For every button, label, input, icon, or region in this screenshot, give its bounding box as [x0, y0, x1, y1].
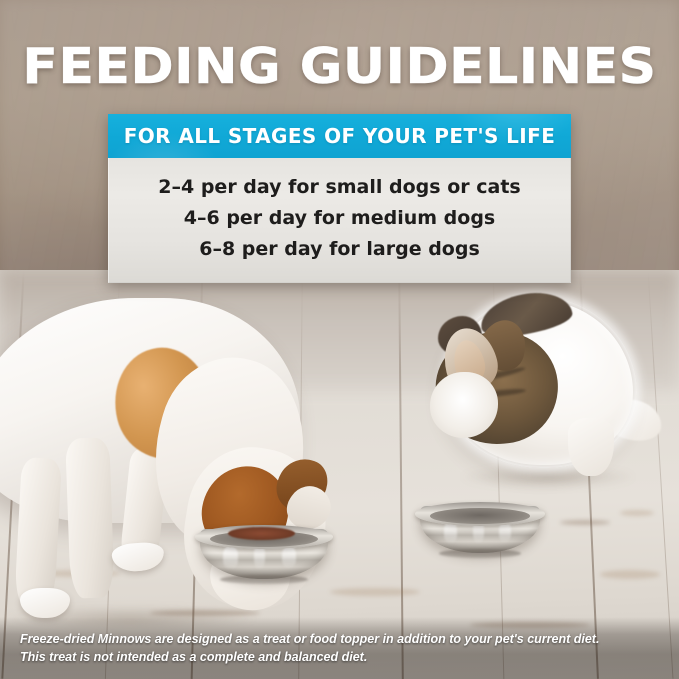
guideline-row: 2–4 per day for small dogs or cats: [109, 172, 570, 203]
bowl-foot: [220, 575, 307, 584]
panel-body: 2–4 per day for small dogs or cats 4–6 p…: [108, 158, 571, 283]
bowl-highlight: [223, 546, 238, 569]
cat-muzzle: [430, 372, 498, 438]
cat-leg: [568, 418, 614, 476]
disclaimer-line: This treat is not intended as a complete…: [20, 648, 679, 666]
feeding-guidelines-poster: FEEDING GUIDELINES FOR ALL STAGES OF YOU…: [0, 0, 679, 679]
dog-paw: [111, 541, 165, 573]
panel-banner-label: FOR ALL STAGES OF YOUR PET'S LIFE: [124, 124, 556, 148]
cat-shadow: [458, 466, 638, 488]
dog-leg: [65, 437, 115, 598]
cat-food-bowl: [420, 506, 540, 553]
bowl-foot: [439, 549, 521, 558]
bowl-food: [228, 527, 295, 540]
cat-illustration: [418, 280, 658, 530]
dog-leg: [14, 457, 62, 609]
dog-food-bowl: [200, 529, 328, 579]
page-title: FEEDING GUIDELINES: [0, 42, 679, 91]
wood-grain: [600, 570, 660, 579]
guideline-row: 6–8 per day for large dogs: [109, 234, 570, 265]
bowl-interior: [430, 508, 531, 524]
dog-illustration: [0, 288, 370, 648]
disclaimer-line: Freeze-dried Minnows are designed as a t…: [20, 630, 679, 648]
guideline-row: 4–6 per day for medium dogs: [109, 203, 570, 234]
disclaimer-footer: Freeze-dried Minnows are designed as a t…: [0, 617, 679, 679]
panel-banner: FOR ALL STAGES OF YOUR PET'S LIFE: [108, 114, 571, 158]
feeding-info-panel: FOR ALL STAGES OF YOUR PET'S LIFE 2–4 pe…: [108, 114, 571, 283]
bowl-highlight: [282, 546, 296, 568]
